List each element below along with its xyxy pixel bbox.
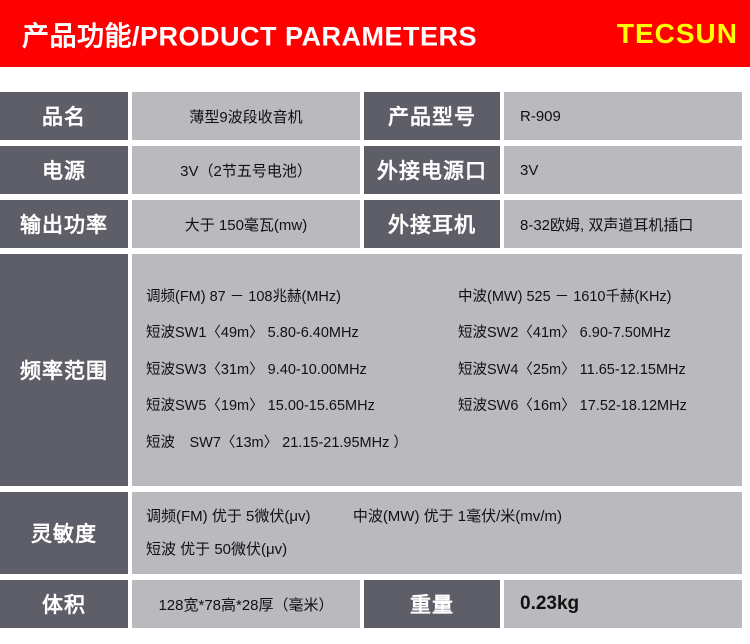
- table-row: 品名 薄型9波段收音机 产品型号 R-909: [0, 92, 742, 140]
- page-title: 产品功能/PRODUCT PARAMETERS: [22, 14, 477, 53]
- sensitivity-sw: 短波 优于 50微伏(μv): [146, 533, 742, 566]
- frequency-band-sw3: 短波SW3〈31m〉 9.40-10.00MHz: [146, 352, 444, 389]
- table-row: 电源 3V（2节五号电池） 外接电源口 3V: [0, 146, 742, 194]
- label-weight: 重量: [364, 580, 500, 628]
- frequency-band-sw7: 短波 SW7〈13m〉 21.15-21.95MHz ）: [146, 425, 742, 462]
- frequency-band-fm: 调频(FM) 87 － 108兆赫(MHz): [146, 279, 444, 316]
- label-dimensions: 体积: [0, 580, 128, 628]
- sensitivity-fm: 调频(FM) 优于 5微伏(μv): [146, 508, 310, 525]
- value-power-supply: 3V（2节五号电池）: [132, 146, 360, 194]
- brand-logo-tecsun: TECSUN: [617, 18, 738, 50]
- table-row: 频率范围 调频(FM) 87 － 108兆赫(MHz) 中波(MW) 525 －…: [0, 254, 742, 486]
- label-frequency-range: 频率范围: [0, 254, 128, 486]
- value-model-number: R-909: [504, 92, 742, 140]
- sensitivity-line-1: 调频(FM) 优于 5微伏(μv) 中波(MW) 优于 1毫伏/米(mv/m): [146, 500, 742, 533]
- value-external-earphone: 8-32欧姆, 双声道耳机插口: [504, 200, 742, 248]
- label-power-supply: 电源: [0, 146, 128, 194]
- frequency-band-sw5: 短波SW5〈19m〉 15.00-15.65MHz: [146, 388, 444, 425]
- label-sensitivity: 灵敏度: [0, 492, 128, 574]
- table-row: 输出功率 大于 150毫瓦(mw) 外接耳机 8-32欧姆, 双声道耳机插口: [0, 200, 742, 248]
- value-product-name: 薄型9波段收音机: [132, 92, 360, 140]
- value-external-power-port: 3V: [504, 146, 742, 194]
- frequency-band-sw6: 短波SW6〈16m〉 17.52-18.12MHz: [444, 388, 742, 425]
- label-output-power: 输出功率: [0, 200, 128, 248]
- table-row: 灵敏度 调频(FM) 优于 5微伏(μv) 中波(MW) 优于 1毫伏/米(mv…: [0, 492, 742, 574]
- label-external-power-port: 外接电源口: [364, 146, 500, 194]
- product-parameters-table: 品名 薄型9波段收音机 产品型号 R-909 电源 3V（2节五号电池） 外接电…: [0, 86, 746, 634]
- table-row: 体积 128宽*78高*28厚（毫米） 重量 0.23kg: [0, 580, 742, 628]
- sensitivity-block: 调频(FM) 优于 5微伏(μv) 中波(MW) 优于 1毫伏/米(mv/m) …: [132, 496, 742, 570]
- value-output-power: 大于 150毫瓦(mw): [132, 200, 360, 248]
- value-frequency-range: 调频(FM) 87 － 108兆赫(MHz) 中波(MW) 525 － 1610…: [132, 254, 742, 486]
- frequency-band-mw: 中波(MW) 525 － 1610千赫(KHz): [444, 279, 742, 316]
- label-product-name: 品名: [0, 92, 128, 140]
- sensitivity-mw: 中波(MW) 优于 1毫伏/米(mv/m): [353, 508, 562, 525]
- frequency-band-sw2: 短波SW2〈41m〉 6.90-7.50MHz: [444, 315, 742, 352]
- frequency-band-sw4: 短波SW4〈25m〉 11.65-12.15MHz: [444, 352, 742, 389]
- value-sensitivity: 调频(FM) 优于 5微伏(μv) 中波(MW) 优于 1毫伏/米(mv/m) …: [132, 492, 742, 574]
- label-model-number: 产品型号: [364, 92, 500, 140]
- label-external-earphone: 外接耳机: [364, 200, 500, 248]
- value-weight: 0.23kg: [504, 580, 742, 628]
- frequency-band-grid: 调频(FM) 87 － 108兆赫(MHz) 中波(MW) 525 － 1610…: [132, 273, 742, 468]
- value-dimensions: 128宽*78高*28厚（毫米）: [132, 580, 360, 628]
- frequency-band-sw1: 短波SW1〈49m〉 5.80-6.40MHz: [146, 315, 444, 352]
- page-header-banner: 产品功能/PRODUCT PARAMETERS TECSUN: [0, 0, 750, 67]
